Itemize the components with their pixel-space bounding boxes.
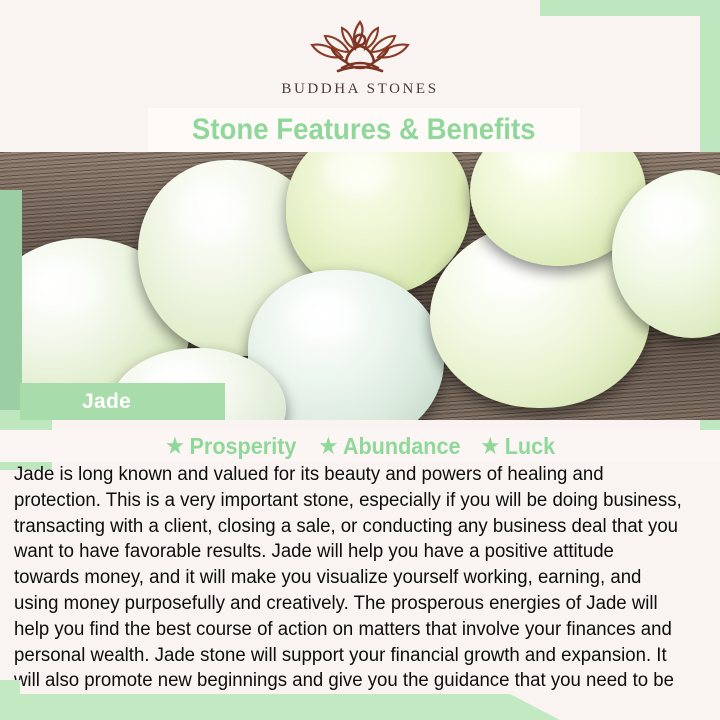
- decorative-band-bottom-left: [0, 680, 20, 720]
- stone-photo: [0, 152, 720, 420]
- stone-description: Jade is long known and valued for its be…: [14, 462, 682, 720]
- benefit-label: Abundance: [343, 433, 461, 460]
- star-icon: ★: [320, 436, 338, 457]
- benefit-label: Prosperity: [190, 433, 297, 460]
- star-icon: ★: [167, 436, 185, 457]
- benefit-abundance: ★ Abundance: [320, 433, 461, 460]
- decorative-band-bottom: [0, 694, 560, 720]
- page-title: Stone Features & Benefits: [192, 113, 536, 147]
- lotus-meditation-icon: [294, 14, 426, 80]
- star-icon: ★: [481, 436, 499, 457]
- title-banner: Stone Features & Benefits: [148, 108, 580, 152]
- stone-name-text: Jade: [82, 390, 131, 414]
- benefits-row: ★ Prosperity ★ Abundance ★ Luck: [0, 430, 720, 462]
- brand-logo: BUDDHA STONES: [0, 0, 720, 112]
- stone-name-label: Jade: [20, 383, 225, 420]
- page-root: BUDDHA STONES Stone Features & Benefits …: [0, 0, 720, 720]
- benefit-prosperity: ★ Prosperity: [167, 433, 297, 460]
- decorative-band-left: [0, 190, 22, 430]
- brand-name: BUDDHA STONES: [281, 81, 438, 98]
- benefit-label: Luck: [505, 433, 555, 460]
- benefit-luck: ★ Luck: [481, 433, 555, 460]
